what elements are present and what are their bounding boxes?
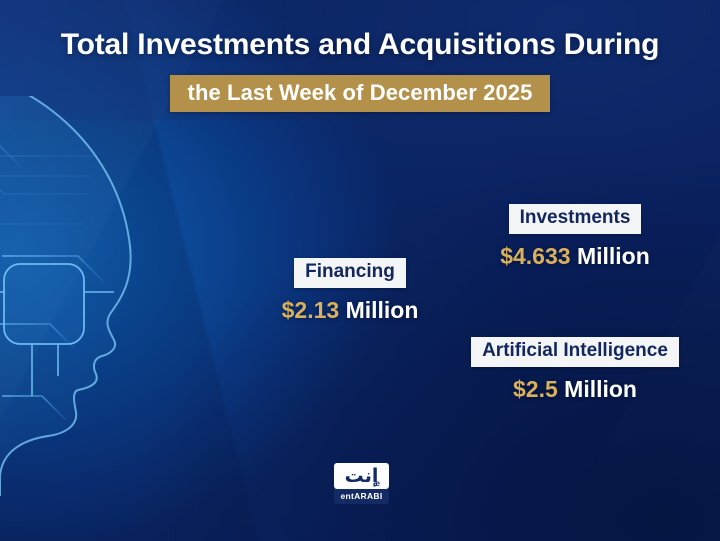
stat-financing-label: Financing [294, 258, 406, 288]
stat-investments: Investments $4.633 Million [455, 204, 695, 270]
page-title: Total Investments and Acquisitions Durin… [0, 28, 720, 61]
stat-artificial-intelligence-amount: $2.5 [513, 376, 558, 402]
stat-financing-value: $2.13 Million [215, 297, 485, 325]
stat-financing: Financing $2.13 Million [215, 258, 485, 324]
logo-arabic-text: إنت [345, 465, 379, 487]
stat-artificial-intelligence-label: Artificial Intelligence [471, 337, 679, 367]
stat-investments-unit: Million [577, 243, 650, 269]
stat-investments-label: Investments [509, 204, 642, 234]
brand-logo: إنت e entARABI [334, 463, 389, 504]
title-block: Total Investments and Acquisitions Durin… [0, 28, 720, 112]
stat-artificial-intelligence: Artificial Intelligence $2.5 Million [440, 337, 710, 403]
stat-investments-amount: $4.633 [500, 243, 570, 269]
stat-investments-value: $4.633 Million [455, 243, 695, 271]
logo-mark: إنت e [334, 463, 389, 489]
stat-artificial-intelligence-value: $2.5 Million [440, 376, 710, 404]
logo-superscript-e: e [376, 480, 380, 488]
stat-financing-unit: Million [346, 297, 419, 323]
infographic-canvas: Total Investments and Acquisitions Durin… [0, 0, 720, 541]
logo-wordmark: entARABI [334, 489, 389, 504]
stat-financing-amount: $2.13 [282, 297, 340, 323]
subtitle-banner: the Last Week of December 2025 [170, 75, 551, 112]
stat-artificial-intelligence-unit: Million [564, 376, 637, 402]
